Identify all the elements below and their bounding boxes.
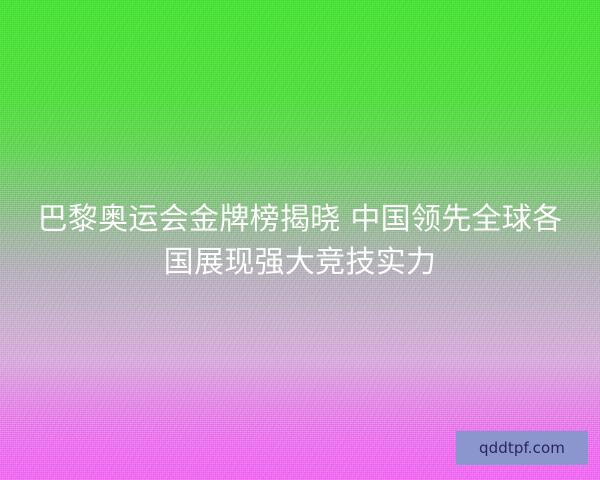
headline-title: 巴黎奥运会金牌榜揭晓 中国领先全球各国展现强大竞技实力 <box>0 198 600 284</box>
watermark-badge: qddtpf.com <box>456 431 588 465</box>
image-banner: 巴黎奥运会金牌榜揭晓 中国领先全球各国展现强大竞技实力 qddtpf.com <box>0 0 600 480</box>
watermark-label: qddtpf.com <box>479 441 565 456</box>
